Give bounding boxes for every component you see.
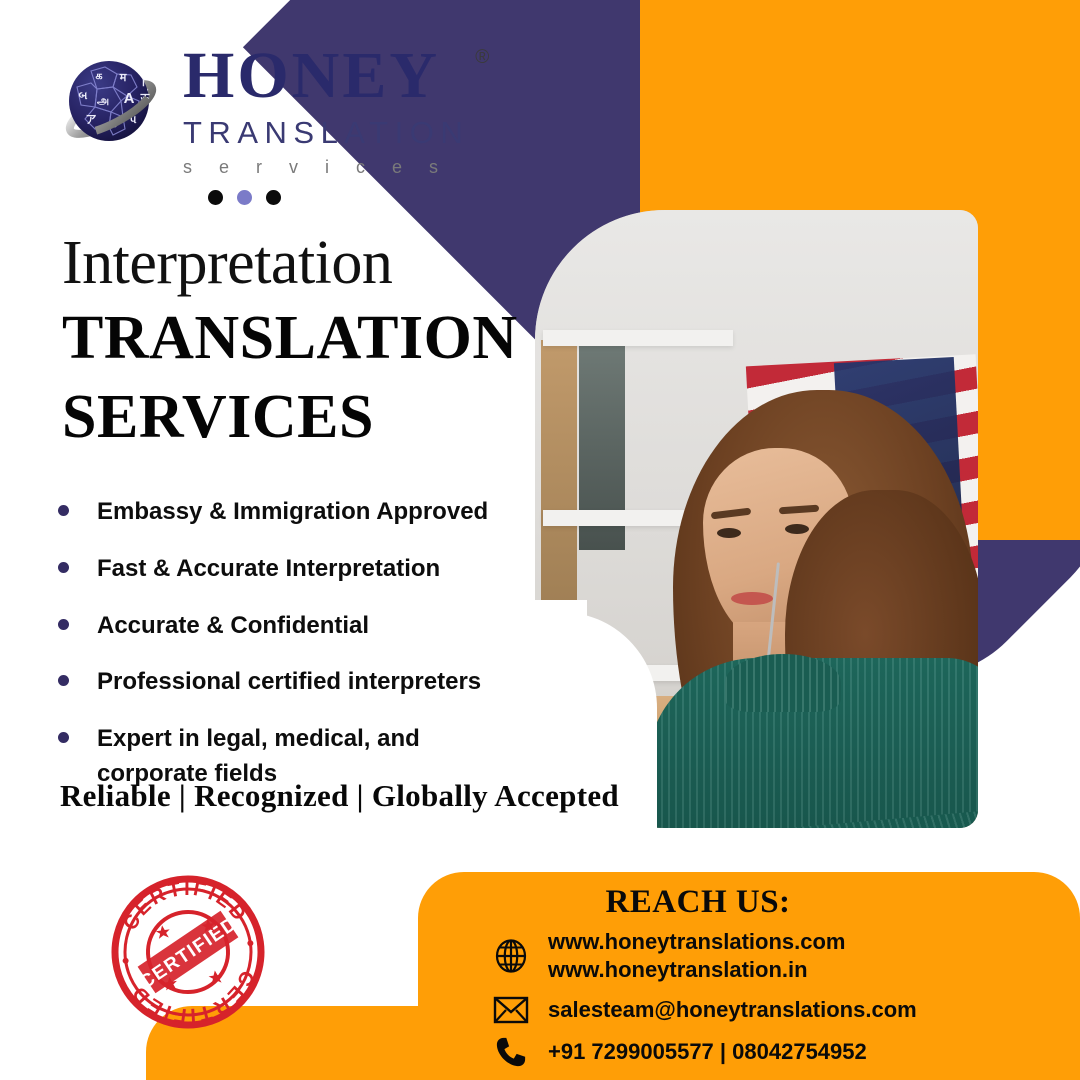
page-title: Interpretation TRANSLATION SERVICES <box>62 232 518 453</box>
svg-text:ア: ア <box>86 113 97 126</box>
svg-text:CERTIFIED: CERTIFIED <box>136 913 241 994</box>
logo-dot-2 <box>237 190 252 205</box>
bullet-dot-icon <box>58 732 69 743</box>
list-item: Fast & Accurate Interpretation <box>58 552 528 587</box>
brand-wordmark: HONEY ® TRANSLATION s e r v i c e s <box>183 45 469 178</box>
logo-dot-3 <box>266 190 281 205</box>
headline-script-line: Interpretation <box>62 232 518 294</box>
contact-heading: REACH US: <box>418 884 978 921</box>
brand-name-secondary: TRANSLATION <box>183 115 469 151</box>
tagline: Reliable | Recognized | Globally Accepte… <box>60 778 619 814</box>
email-link[interactable]: salesteam@honeytranslations.com <box>548 996 917 1024</box>
globe-icon <box>490 939 532 973</box>
contact-row-website[interactable]: www.honeytranslations.com www.honeytrans… <box>490 928 917 984</box>
brand-name-tertiary: s e r v i c e s <box>183 157 469 178</box>
bullet-dot-icon <box>58 619 69 630</box>
registered-trademark-icon: ® <box>475 47 489 69</box>
poster-canvas: க म । બ அ A ऊ ア బ પ HONEY ® TRANSLATION … <box>0 0 1080 1080</box>
bullet-dot-icon <box>58 675 69 686</box>
phone-icon <box>490 1036 532 1068</box>
svg-text:A: A <box>124 90 135 107</box>
certified-stamp-icon: CERTIFIED CERTIFIED CERTIFIED <box>98 862 279 1043</box>
brand-logo: க म । બ அ A ऊ ア బ પ HONEY ® TRANSLATION … <box>55 45 469 178</box>
svg-text:க: க <box>95 70 102 82</box>
logo-dots-divider <box>208 190 281 205</box>
contact-panel-joint <box>418 1006 478 1066</box>
logo-dot-1 <box>208 190 223 205</box>
feature-list: Embassy & Immigration Approved Fast & Ac… <box>58 495 528 814</box>
orange-right-wedge <box>966 180 1080 510</box>
feature-text: Embassy & Immigration Approved <box>97 495 488 530</box>
website-link-2[interactable]: www.honeytranslation.in <box>548 957 808 982</box>
contact-row-phone[interactable]: +91 7299005577 | 08042754952 <box>490 1036 917 1068</box>
globe-languages-icon: க म । બ அ A ऊ ア బ પ <box>55 49 167 161</box>
brand-name-primary: HONEY <box>183 45 469 108</box>
phone-numbers[interactable]: +91 7299005577 | 08042754952 <box>548 1038 867 1066</box>
svg-text:म: म <box>119 72 127 84</box>
feature-text: Fast & Accurate Interpretation <box>97 552 440 587</box>
headline-bold-line-1: TRANSLATION <box>62 304 518 373</box>
svg-text:।: । <box>141 77 145 89</box>
list-item: Embassy & Immigration Approved <box>58 495 528 530</box>
feature-text: Professional certified interpreters <box>97 665 481 700</box>
svg-text:બ: બ <box>79 90 88 102</box>
contact-details: www.honeytranslations.com www.honeytrans… <box>490 928 917 1080</box>
website-links[interactable]: www.honeytranslations.com www.honeytrans… <box>548 928 845 984</box>
contact-row-email[interactable]: salesteam@honeytranslations.com <box>490 996 917 1024</box>
envelope-icon <box>490 996 532 1024</box>
website-link-1[interactable]: www.honeytranslations.com <box>548 929 845 954</box>
orange-top-notch-fill <box>640 0 900 200</box>
list-item: Accurate & Confidential <box>58 609 528 644</box>
svg-text:அ: அ <box>97 95 109 107</box>
bullet-dot-icon <box>58 562 69 573</box>
list-item: Professional certified interpreters <box>58 665 528 700</box>
bullet-dot-icon <box>58 505 69 516</box>
feature-text: Accurate & Confidential <box>97 609 369 644</box>
headline-bold-line-2: SERVICES <box>62 383 518 452</box>
